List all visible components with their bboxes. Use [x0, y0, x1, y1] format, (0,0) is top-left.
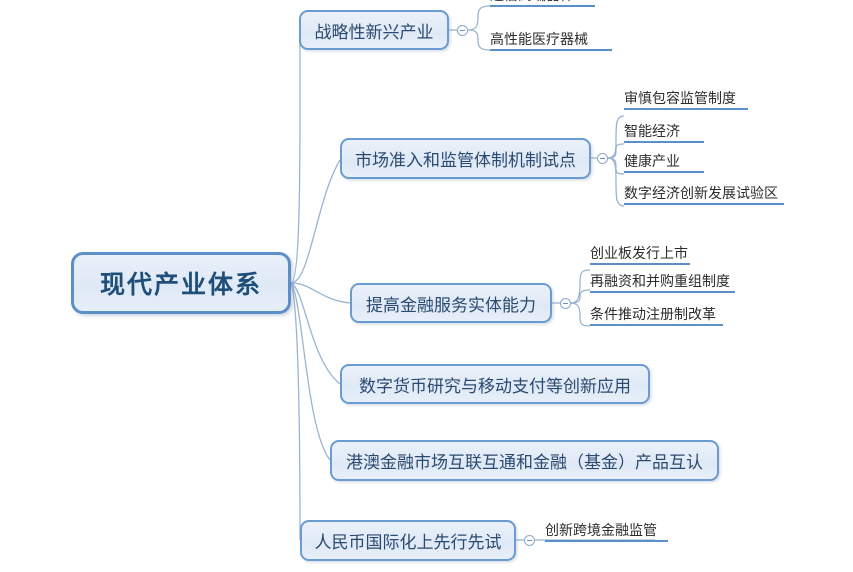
branch-node-label: 人民币国际化上先行先试 [315, 528, 502, 553]
leaf-node-cross-border-financial-regulation[interactable]: 创新跨境金融监管 [545, 521, 668, 542]
leaf-node-label: 再融资和并购重组制度 [590, 275, 730, 290]
leaf-node-intelligent-economy[interactable]: 智能经济 [624, 122, 704, 143]
root-node[interactable]: 现代产业体系 [71, 252, 291, 314]
branch-node-improve-financial-services[interactable]: 提高金融服务实体能力 [350, 283, 552, 323]
leaf-node-label: 创新跨境金融监管 [545, 524, 657, 539]
leaf-node-label: 数字经济创新发展试验区 [624, 187, 778, 202]
leaf-node-chinext-listing[interactable]: 创业板发行上市 [590, 244, 690, 265]
root-node-label: 现代产业体系 [100, 265, 262, 301]
branch-node-label: 市场准入和监管体制机制试点 [355, 146, 576, 171]
branch-node-label: 战略性新兴产业 [315, 18, 434, 43]
leaf-node-label: 创业板发行上市 [590, 247, 688, 262]
branch-node-rmb-internationalization-pilot[interactable]: 人民币国际化上先行先试 [300, 520, 516, 561]
leaf-node-registration-system-reform[interactable]: 条件推动注册制改革 [590, 305, 723, 326]
collapse-minus-icon[interactable] [560, 298, 571, 309]
branch-node-market-access-regulatory-pilot[interactable]: 市场准入和监管体制机制试点 [340, 138, 591, 179]
leaf-node-label: 智能经济 [624, 125, 680, 140]
leaf-node-high-performance-medical-devices[interactable]: 高性能医疗器械 [490, 31, 612, 51]
mindmap-canvas: 现代产业体系 战略性新兴产业 通信高端器件 高性能医疗器械 市场准入和监管体制机… [0, 0, 853, 572]
leaf-node-digital-economy-innovation-zone[interactable]: 数字经济创新发展试验区 [624, 184, 784, 205]
leaf-node-label: 通信高端器件 [490, 0, 574, 4]
branch-node-label: 数字货币研究与移动支付等创新应用 [359, 372, 631, 397]
leaf-node-label: 健康产业 [624, 155, 680, 170]
leaf-node-prudent-inclusive-regulation[interactable]: 审慎包容监管制度 [624, 89, 748, 110]
collapse-minus-icon[interactable] [524, 535, 535, 546]
collapse-minus-icon[interactable] [597, 153, 608, 164]
leaf-node-label: 高性能医疗器械 [490, 33, 588, 48]
leaf-node-refinancing-ma-restructuring[interactable]: 再融资和并购重组制度 [590, 272, 735, 293]
branch-node-hk-macau-financial-interconnection[interactable]: 港澳金融市场互联互通和金融（基金）产品互认 [330, 440, 719, 481]
branch-node-digital-currency-mobile-payment[interactable]: 数字货币研究与移动支付等创新应用 [340, 364, 650, 404]
collapse-minus-icon[interactable] [457, 25, 468, 36]
branch-node-strategic-emerging-industries[interactable]: 战略性新兴产业 [299, 10, 449, 50]
leaf-node-label: 条件推动注册制改革 [590, 308, 716, 323]
branch-node-label: 提高金融服务实体能力 [366, 291, 536, 316]
branch-node-label: 港澳金融市场互联互通和金融（基金）产品互认 [346, 448, 703, 473]
leaf-node-communication-high-end-components[interactable]: 通信高端器件 [490, 0, 595, 7]
leaf-node-health-industry[interactable]: 健康产业 [624, 152, 704, 173]
leaf-node-label: 审慎包容监管制度 [624, 92, 736, 107]
